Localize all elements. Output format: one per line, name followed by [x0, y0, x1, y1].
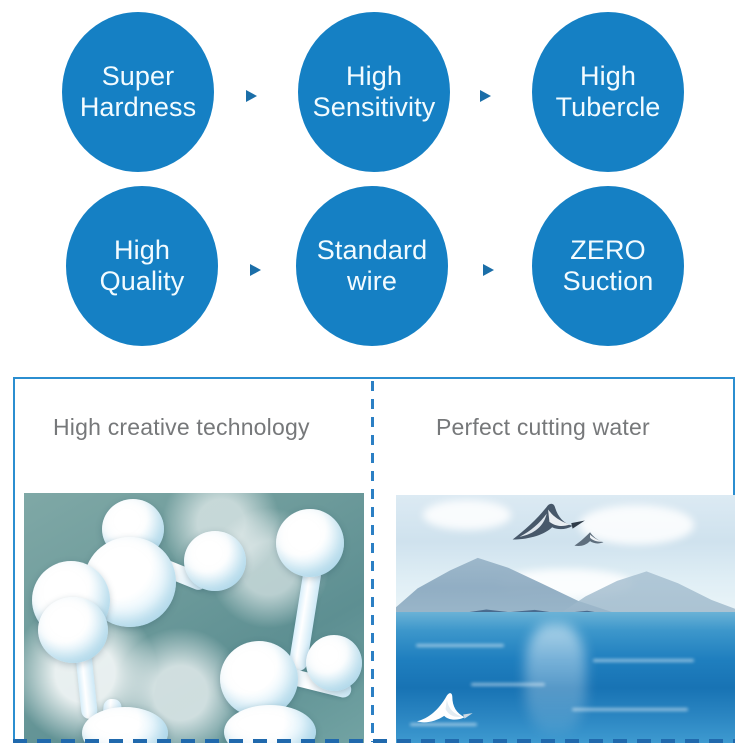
feature-circle-high-tubercle[interactable]: High Tubercle — [532, 12, 684, 172]
feature-circle-label: Standard wire — [317, 235, 427, 297]
feature-circle-label: High Sensitivity — [313, 61, 436, 123]
ice-blob — [184, 531, 246, 591]
water-ripple — [572, 708, 687, 711]
ice-blob — [306, 635, 362, 691]
arrow-right-triangle-icon — [480, 90, 491, 102]
sea-landscape-image: Seagulls flying over blue sea with dista… — [396, 495, 735, 743]
seagull-icon — [413, 688, 474, 730]
showcase-panel: High creative technology Fro — [13, 377, 735, 741]
feature-circle-super-hardness[interactable]: Super Hardness — [62, 12, 214, 172]
panel-bottom-dashed-border — [13, 739, 735, 743]
feature-circle-label: High Quality — [100, 235, 185, 297]
showcase-caption-right: Perfect cutting water — [436, 414, 650, 441]
ice-molecule-image: Frozen ice crystal molecule structures o… — [24, 493, 364, 743]
arrow-right-triangle-icon — [250, 264, 261, 276]
ice-blob — [38, 597, 108, 663]
showcase-cell-high-creative-technology: High creative technology Fro — [15, 379, 374, 741]
feature-circle-label: ZERO Suction — [563, 235, 654, 297]
sun-glint — [525, 624, 586, 733]
arrow-right-triangle-icon — [246, 90, 257, 102]
seagull-icon — [572, 530, 606, 552]
water-ripple — [416, 644, 504, 647]
feature-circle-high-sensitivity[interactable]: High Sensitivity — [298, 12, 450, 172]
cloud-shape — [423, 500, 511, 530]
water-ripple — [593, 659, 695, 662]
feature-circle-label: Super Hardness — [80, 61, 196, 123]
showcase-caption-left: High creative technology — [53, 414, 310, 441]
feature-circle-high-quality[interactable]: High Quality — [66, 186, 218, 346]
arrow-right-triangle-icon — [483, 264, 494, 276]
showcase-cell-perfect-cutting-water: Perfect cutting water — [376, 379, 735, 741]
feature-circle-label: High Tubercle — [556, 61, 661, 123]
panel-vertical-divider — [371, 381, 374, 742]
feature-flow-diagram: Super Hardness High Sensitivity High Tub… — [0, 0, 750, 362]
ice-blob — [276, 509, 344, 577]
feature-circle-zero-suction[interactable]: ZERO Suction — [532, 186, 684, 346]
infographic-page: Super Hardness High Sensitivity High Tub… — [0, 0, 750, 750]
feature-circle-standard-wire[interactable]: Standard wire — [296, 186, 448, 346]
